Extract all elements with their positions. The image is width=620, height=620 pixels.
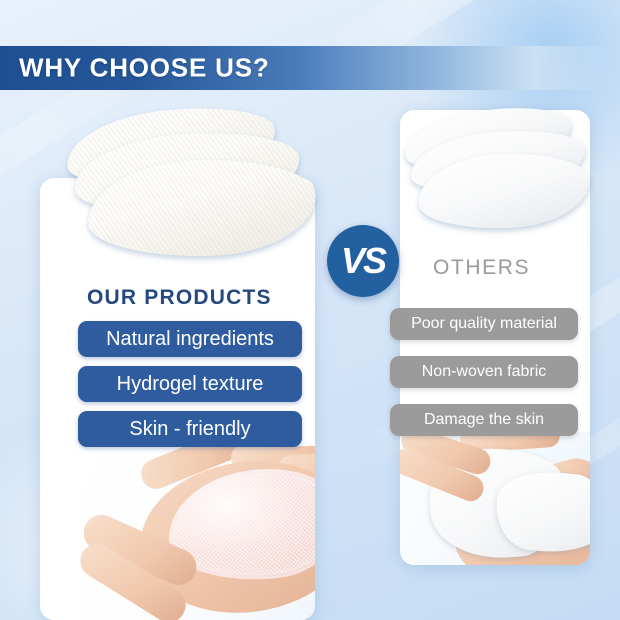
our-products-heading: OUR PRODUCTS (87, 286, 272, 310)
vs-label: VS (341, 243, 385, 279)
why-choose-us-infographic: WHY CHOOSE US? (0, 0, 620, 620)
header-banner: WHY CHOOSE US? (0, 46, 620, 90)
ours-product-photo (58, 104, 320, 264)
page-title: WHY CHOOSE US? (19, 53, 270, 84)
feature-pill-others: Damage the skin (390, 404, 578, 436)
feature-pill-ours: Natural ingredients (78, 321, 302, 357)
feature-pill-ours: Skin - friendly (78, 411, 302, 447)
others-product-photo (398, 108, 594, 240)
feature-pill-others: Poor quality material (390, 308, 578, 340)
feature-pill-ours: Hydrogel texture (78, 366, 302, 402)
vs-badge: VS (327, 225, 399, 297)
feature-pill-others: Non-woven fabric (390, 356, 578, 388)
ours-usage-photo (80, 446, 315, 620)
others-usage-photo (400, 432, 590, 565)
others-heading: OTHERS (433, 256, 530, 280)
